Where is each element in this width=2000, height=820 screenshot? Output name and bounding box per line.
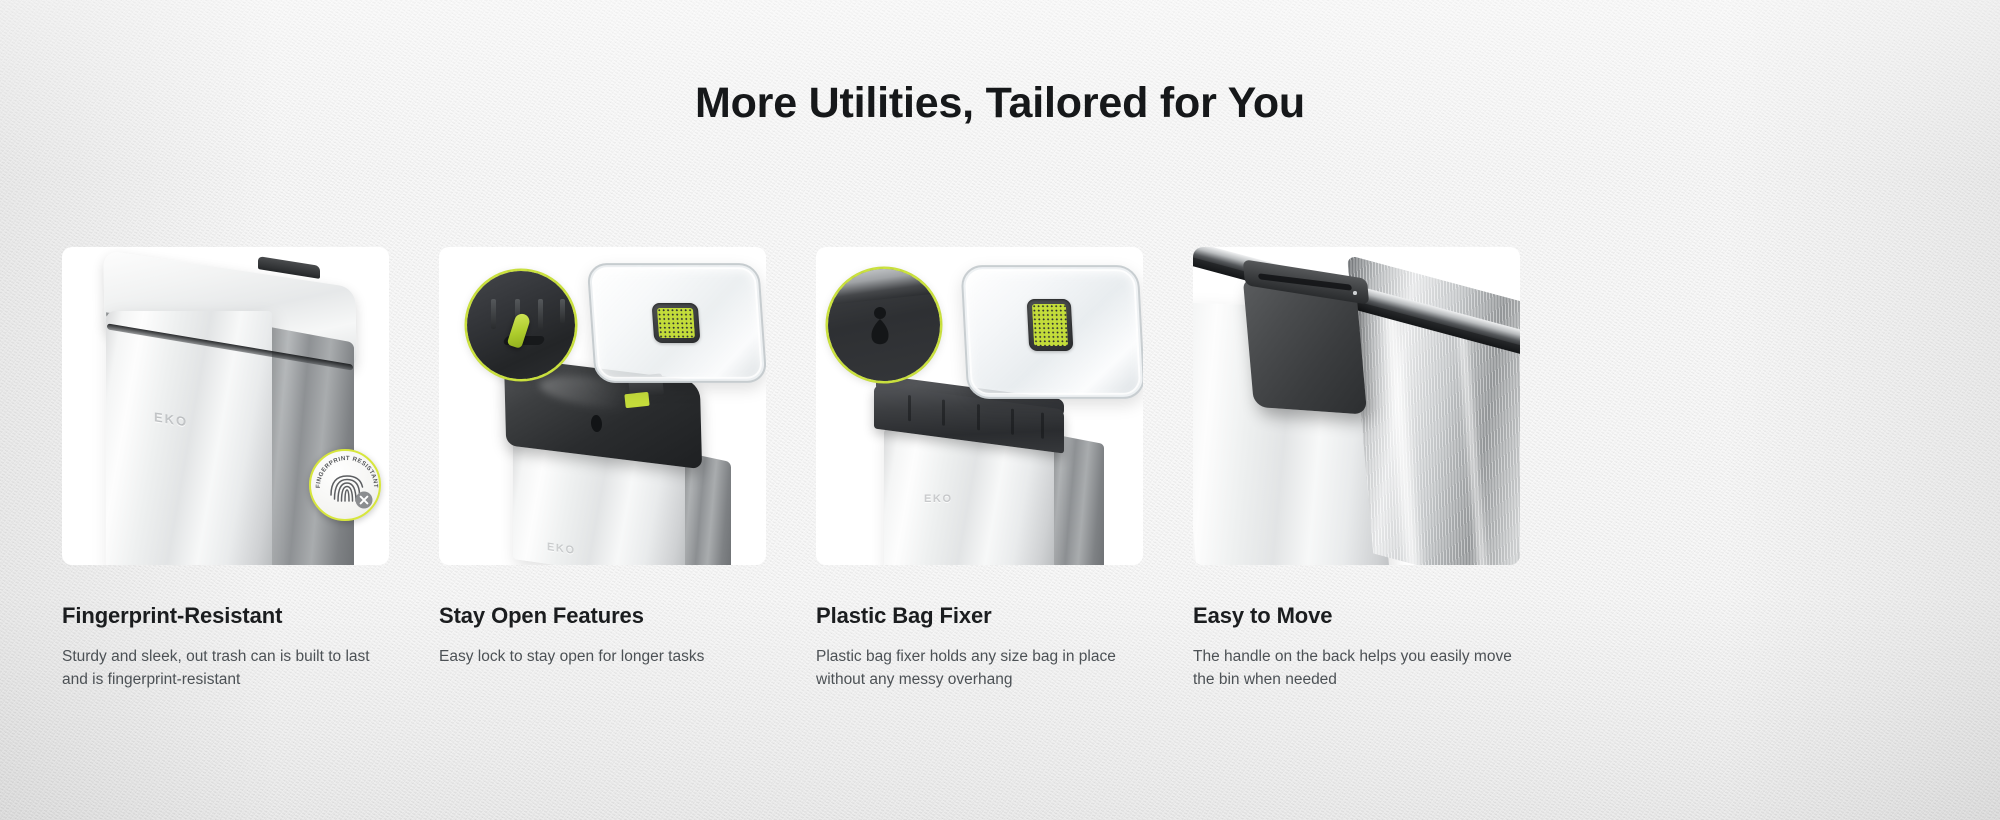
page-title: More Utilities, Tailored for You xyxy=(0,79,2000,128)
product-illustration-stay-open-lock: EKO xyxy=(439,247,766,565)
no-fingerprint-x-icon xyxy=(356,492,373,509)
card-title: Fingerprint-Resistant xyxy=(62,603,389,629)
fingerprint-resistant-badge: FINGERPRINT RESISTANT xyxy=(309,449,381,521)
callout-lock-lever xyxy=(467,271,575,379)
deodorizer-vent xyxy=(652,303,701,343)
card-title: Easy to Move xyxy=(1193,603,1520,629)
card-image-stay-open-features[interactable]: EKO xyxy=(439,247,766,565)
feature-card-fingerprint-resistant[interactable]: EKO FINGERPRINT RESISTANT xyxy=(62,247,389,767)
feature-card-easy-to-move[interactable]: Easy to Move The handle on the back help… xyxy=(1193,247,1520,767)
card-description: Easy lock to stay open for longer tasks xyxy=(439,645,766,668)
card-description: The handle on the back helps you easily … xyxy=(1193,645,1520,691)
card-description: Sturdy and sleek, out trash can is built… xyxy=(62,645,389,691)
card-description: Plastic bag fixer holds any size bag in … xyxy=(816,645,1116,691)
card-title: Plastic Bag Fixer xyxy=(816,603,1143,629)
bin-front-panel xyxy=(884,429,1054,565)
lid-hinge-lock xyxy=(624,392,649,408)
bag-fixer-keyhole-icon xyxy=(865,304,895,350)
product-illustration-fingerprint-bin: EKO FINGERPRINT RESISTANT xyxy=(62,247,389,565)
collar-rim xyxy=(828,269,940,305)
card-title: Stay Open Features xyxy=(439,603,766,629)
bin-side-panel xyxy=(683,452,731,565)
product-illustration-bag-fixer: EKO xyxy=(816,247,1143,565)
feature-card-grid: EKO FINGERPRINT RESISTANT xyxy=(62,247,1942,767)
brand-mark: EKO xyxy=(924,493,953,505)
card-image-easy-to-move[interactable] xyxy=(1193,247,1520,565)
deodorizer-vent xyxy=(1027,299,1074,351)
card-image-fingerprint-resistant[interactable]: EKO FINGERPRINT RESISTANT xyxy=(62,247,389,565)
lid-finger-hole xyxy=(591,414,602,433)
callout-bag-fixer xyxy=(828,269,940,381)
feature-card-stay-open-features[interactable]: EKO Stay Open Features Easy lock to stay… xyxy=(439,247,766,767)
feature-card-plastic-bag-fixer[interactable]: EKO Plastic Bag Fixer Plastic bag fixer … xyxy=(816,247,1143,767)
bin-side-panel xyxy=(1052,434,1104,565)
product-illustration-carry-handle xyxy=(1193,247,1520,565)
carry-handle-pin xyxy=(1353,291,1357,295)
card-image-plastic-bag-fixer[interactable]: EKO xyxy=(816,247,1143,565)
